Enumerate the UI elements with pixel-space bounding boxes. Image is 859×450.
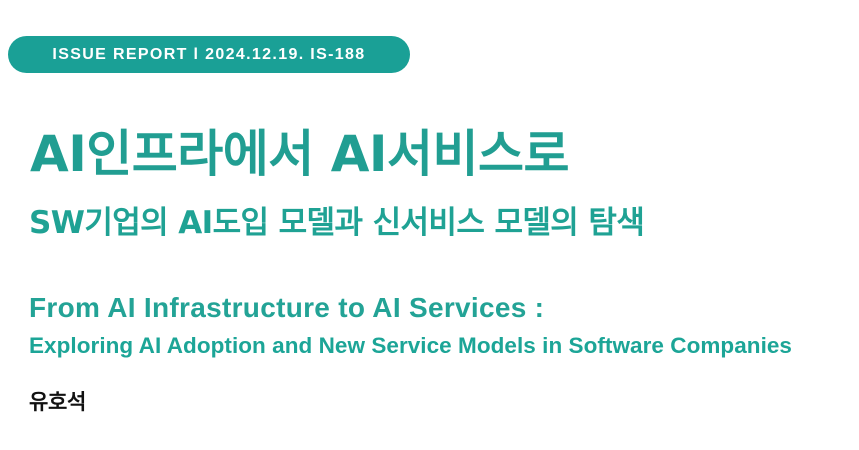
english-title-line2: Exploring AI Adoption and New Service Mo… [29,332,849,359]
english-title-line1: From AI Infrastructure to AI Services : [29,291,849,325]
issue-report-badge-label: ISSUE REPORT l 2024.12.19. IS-188 [52,47,365,63]
author-name: 유호석 [29,390,86,415]
korean-main-title: AI인프라에서 AI서비스로 [30,126,569,182]
report-cover: ISSUE REPORT l 2024.12.19. IS-188 AI인프라에… [0,0,859,450]
english-title-block: From AI Infrastructure to AI Services : … [29,291,849,359]
korean-subtitle: SW기업의 AI도입 모델과 신서비스 모델의 탐색 [29,205,644,242]
issue-report-badge: ISSUE REPORT l 2024.12.19. IS-188 [8,36,410,73]
